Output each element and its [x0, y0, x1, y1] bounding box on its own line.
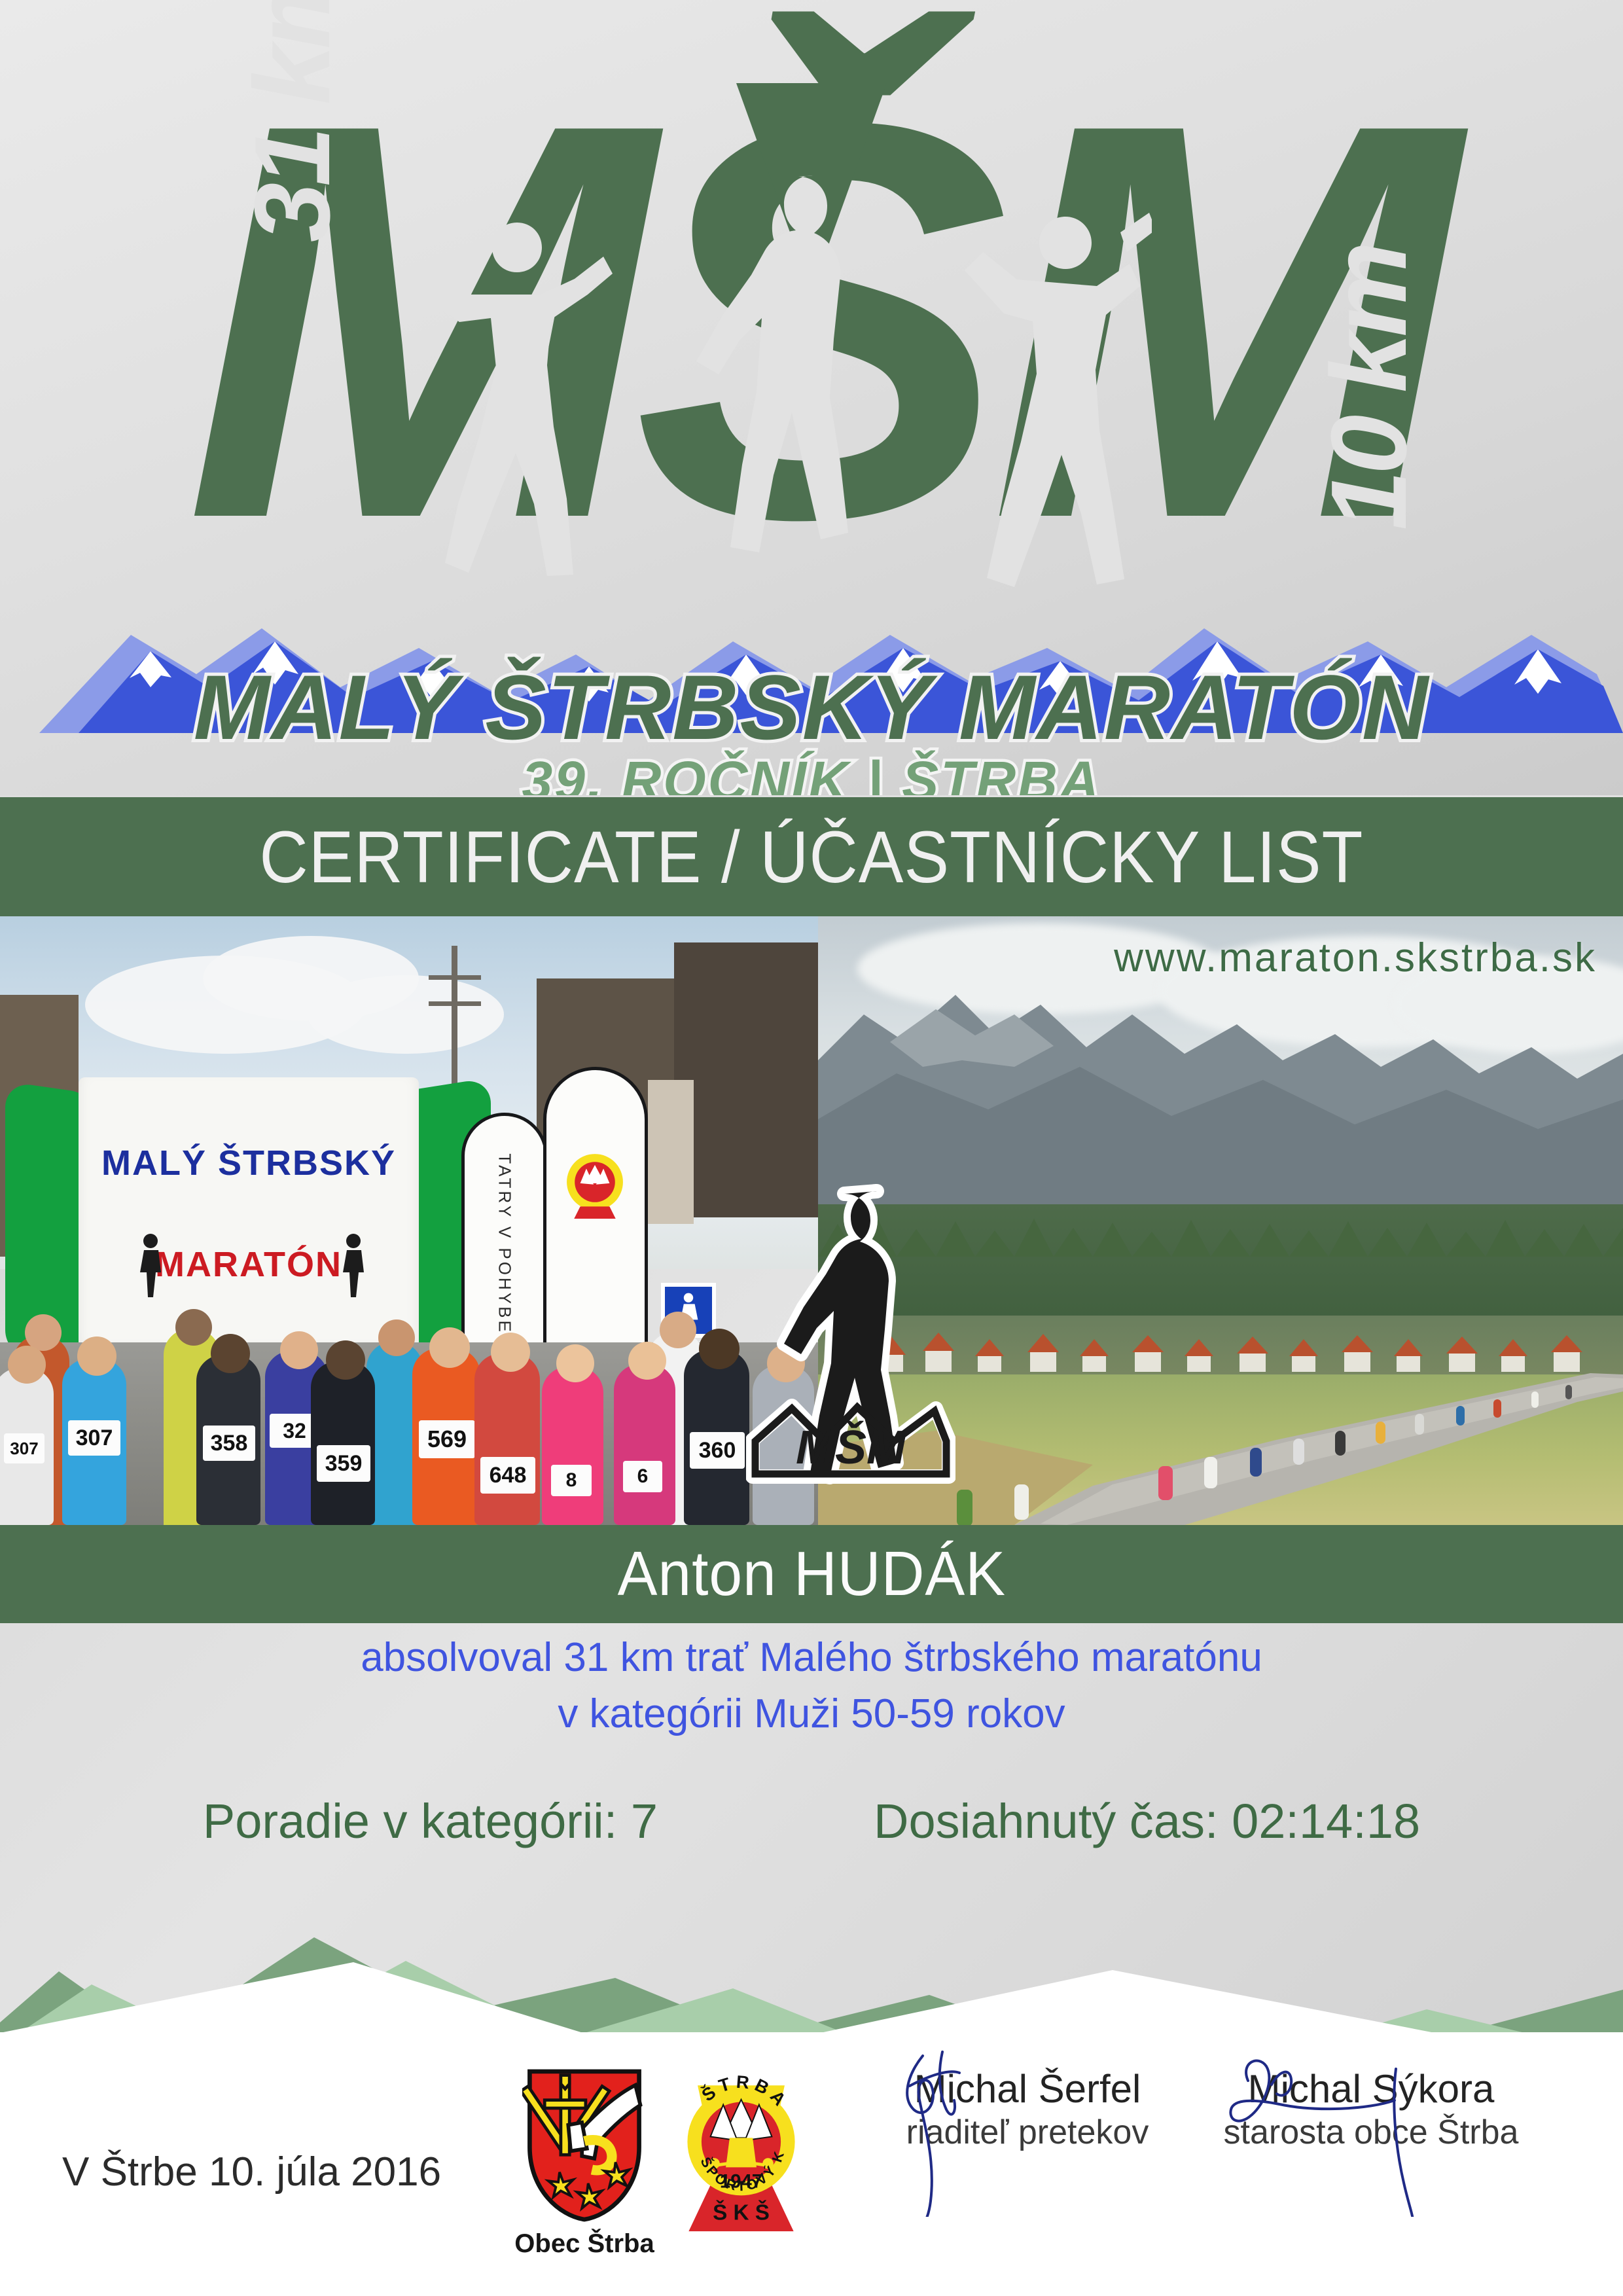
- sks-club-logo-icon: 1947 ŠTRBA ŠPORTOVÝ KLUB Š K Š: [671, 2060, 811, 2239]
- course-runner: [1376, 1422, 1385, 1444]
- flag-text: TATRY V POHYBE: [495, 1153, 515, 1335]
- course-spectator: [957, 1490, 972, 1525]
- building-wall: [648, 1080, 694, 1224]
- photo-start-line: MALÝ ŠTRBSKÝ MARATÓN ŠTART - CIEĽ TATRY …: [0, 916, 818, 1525]
- runner-silhouette-left: [419, 196, 615, 615]
- course-spectator: [1014, 1484, 1029, 1520]
- event-title: MALÝ ŠTRBSKÝ MARATÓN: [0, 655, 1623, 761]
- runner-bib: 569: [419, 1420, 475, 1458]
- website-url: www.maraton.skstrba.sk: [1114, 935, 1597, 981]
- signature-ink-mayor: [1188, 2047, 1554, 2217]
- runner-bib: 358: [203, 1426, 255, 1461]
- course-runner: [1158, 1466, 1173, 1500]
- course-runner: [1415, 1414, 1424, 1435]
- course-runner: [1335, 1431, 1346, 1456]
- detail-text-block: absolvoval 31 km trať Malého štrbského m…: [0, 1630, 1623, 1742]
- municipality-caption: Obec Štrba: [503, 2229, 666, 2259]
- runner-bib: 359: [317, 1445, 370, 1482]
- participant-name: Anton HUDÁK: [617, 1538, 1005, 1610]
- runner-bib: 360: [690, 1432, 745, 1469]
- msm-mini-logo-left: [131, 1229, 170, 1301]
- logo-zone: MŠM 31 km 10 km: [0, 0, 1623, 795]
- detail-line-2: v kategórii Muži 50-59 rokov: [0, 1686, 1623, 1742]
- runner-bib: 8: [551, 1465, 592, 1496]
- runner-bib: 307: [4, 1433, 45, 1463]
- course-runner: [1204, 1457, 1217, 1488]
- participant-name-band: Anton HUDÁK: [0, 1525, 1623, 1623]
- finish-time: Dosiahnutý čas: 02:14:18: [874, 1793, 1420, 1849]
- pole-crossarm: [429, 975, 481, 980]
- sks-logo-on-flag: [558, 1145, 632, 1219]
- issue-date: V Štrbe 10. júla 2016: [62, 2149, 441, 2195]
- category-rank: Poradie v kategórii: 7: [203, 1793, 658, 1849]
- municipality-crest: Obec Štrba: [503, 2068, 666, 2259]
- signature-block-mayor: Michal Sýkora starosta obce Štrba: [1188, 2066, 1554, 2152]
- signature-block-director: Michal Šerfel riaditeľ pretekov: [844, 2066, 1211, 2152]
- course-runner: [1456, 1406, 1465, 1426]
- arch-text-line1: MALÝ ŠTRBSKÝ: [79, 1143, 419, 1183]
- cloud: [308, 975, 504, 1054]
- course-runner: [1565, 1385, 1572, 1399]
- signature-ink-director: [844, 2047, 1211, 2217]
- certificate-page: MŠM 31 km 10 km: [0, 0, 1623, 2296]
- results-row: Poradie v kategórii: 7 Dosiahnutý čas: 0…: [0, 1793, 1623, 1849]
- distance-right-label: 10 km: [1315, 245, 1423, 530]
- runner-bib: 307: [68, 1420, 120, 1456]
- crowd-front-row: 307 307 358 32 359 569 648: [0, 1335, 818, 1525]
- runner-bib: 6: [623, 1461, 662, 1492]
- detail-line-1: absolvoval 31 km trať Malého štrbského m…: [0, 1630, 1623, 1686]
- club-logo: 1947 ŠTRBA ŠPORTOVÝ KLUB Š K Š: [671, 2060, 834, 2242]
- pole-crossarm: [429, 1001, 481, 1006]
- certificate-title-band: CERTIFICATE / ÚČASTNÍCKY LIST: [0, 797, 1623, 916]
- msm-logo: MŠM 31 km 10 km: [0, 46, 1623, 589]
- course-runner: [1250, 1448, 1262, 1477]
- footer: V Štrbe 10. júla 2016: [0, 2032, 1623, 2296]
- course-runner: [1293, 1439, 1304, 1465]
- msm-mini-logo-right: [334, 1229, 373, 1301]
- course-runner: [1493, 1399, 1501, 1418]
- emblem-label: MŠM: [796, 1421, 907, 1474]
- distance-left-label: 31 km: [239, 0, 346, 242]
- runner-silhouette-center: [674, 164, 883, 622]
- runner-bib: 648: [480, 1457, 535, 1494]
- event-subtitle: 39. ROČNÍK | ŠTRBA: [0, 749, 1623, 795]
- course-runner: [1531, 1391, 1539, 1408]
- msm-runner-emblem: MŠM: [746, 1178, 955, 1486]
- certificate-title: CERTIFICATE / ÚČASTNÍCKY LIST: [259, 815, 1363, 899]
- runner-silhouette-right: [949, 187, 1152, 619]
- coat-of-arms-icon: [522, 2068, 647, 2223]
- club-initials: Š K Š: [713, 2200, 770, 2225]
- building: [674, 942, 818, 1217]
